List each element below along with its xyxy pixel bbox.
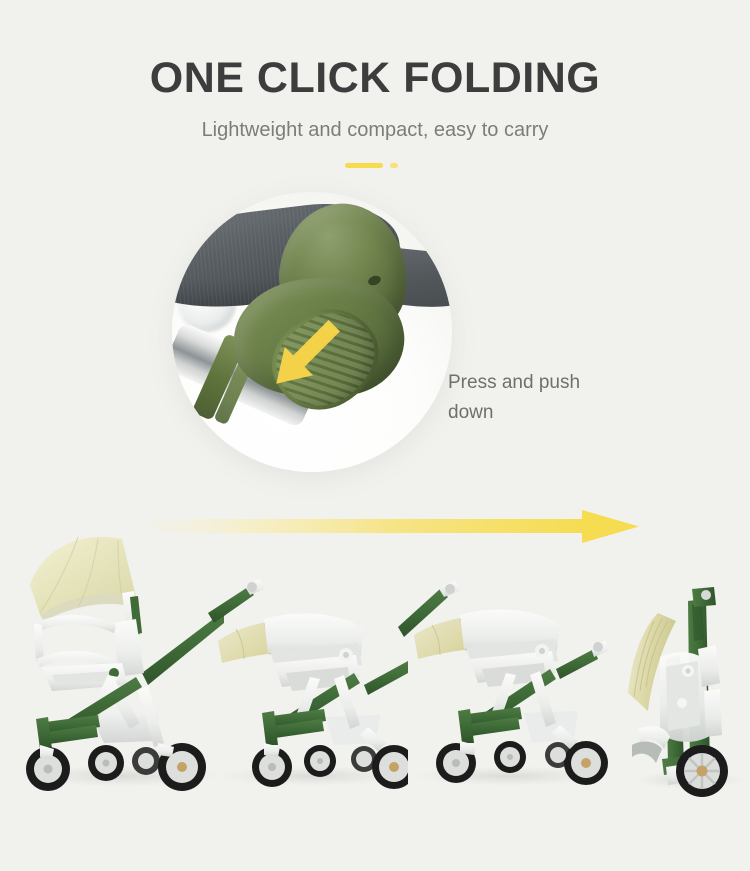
caption-line-2: down: [448, 398, 628, 428]
canopy-collapsed-stroller: [208, 567, 408, 805]
press-direction-arrow-icon: [258, 306, 354, 402]
fully-open-stroller: [18, 527, 224, 805]
one-click-folding-panel: ONE CLICK FOLDING Lightweight and compac…: [0, 0, 750, 871]
seat-lowered-stroller: [398, 567, 608, 805]
caption-line-1: Press and push: [448, 368, 628, 398]
circular-closeup-of-fold-latch: [172, 192, 452, 472]
stroller-sequence: [0, 505, 750, 805]
divider-bar: [345, 163, 383, 168]
divider: [345, 162, 405, 169]
page-title: ONE CLICK FOLDING: [0, 0, 750, 104]
press-instruction-caption: Press and push down: [448, 368, 628, 428]
wheel: [676, 745, 728, 797]
header: ONE CLICK FOLDING Lightweight and compac…: [0, 0, 750, 169]
detail-inset: [172, 192, 452, 472]
fully-folded-stroller: [622, 587, 744, 805]
page-subtitle: Lightweight and compact, easy to carry: [0, 104, 750, 144]
divider-dot: [390, 163, 398, 168]
